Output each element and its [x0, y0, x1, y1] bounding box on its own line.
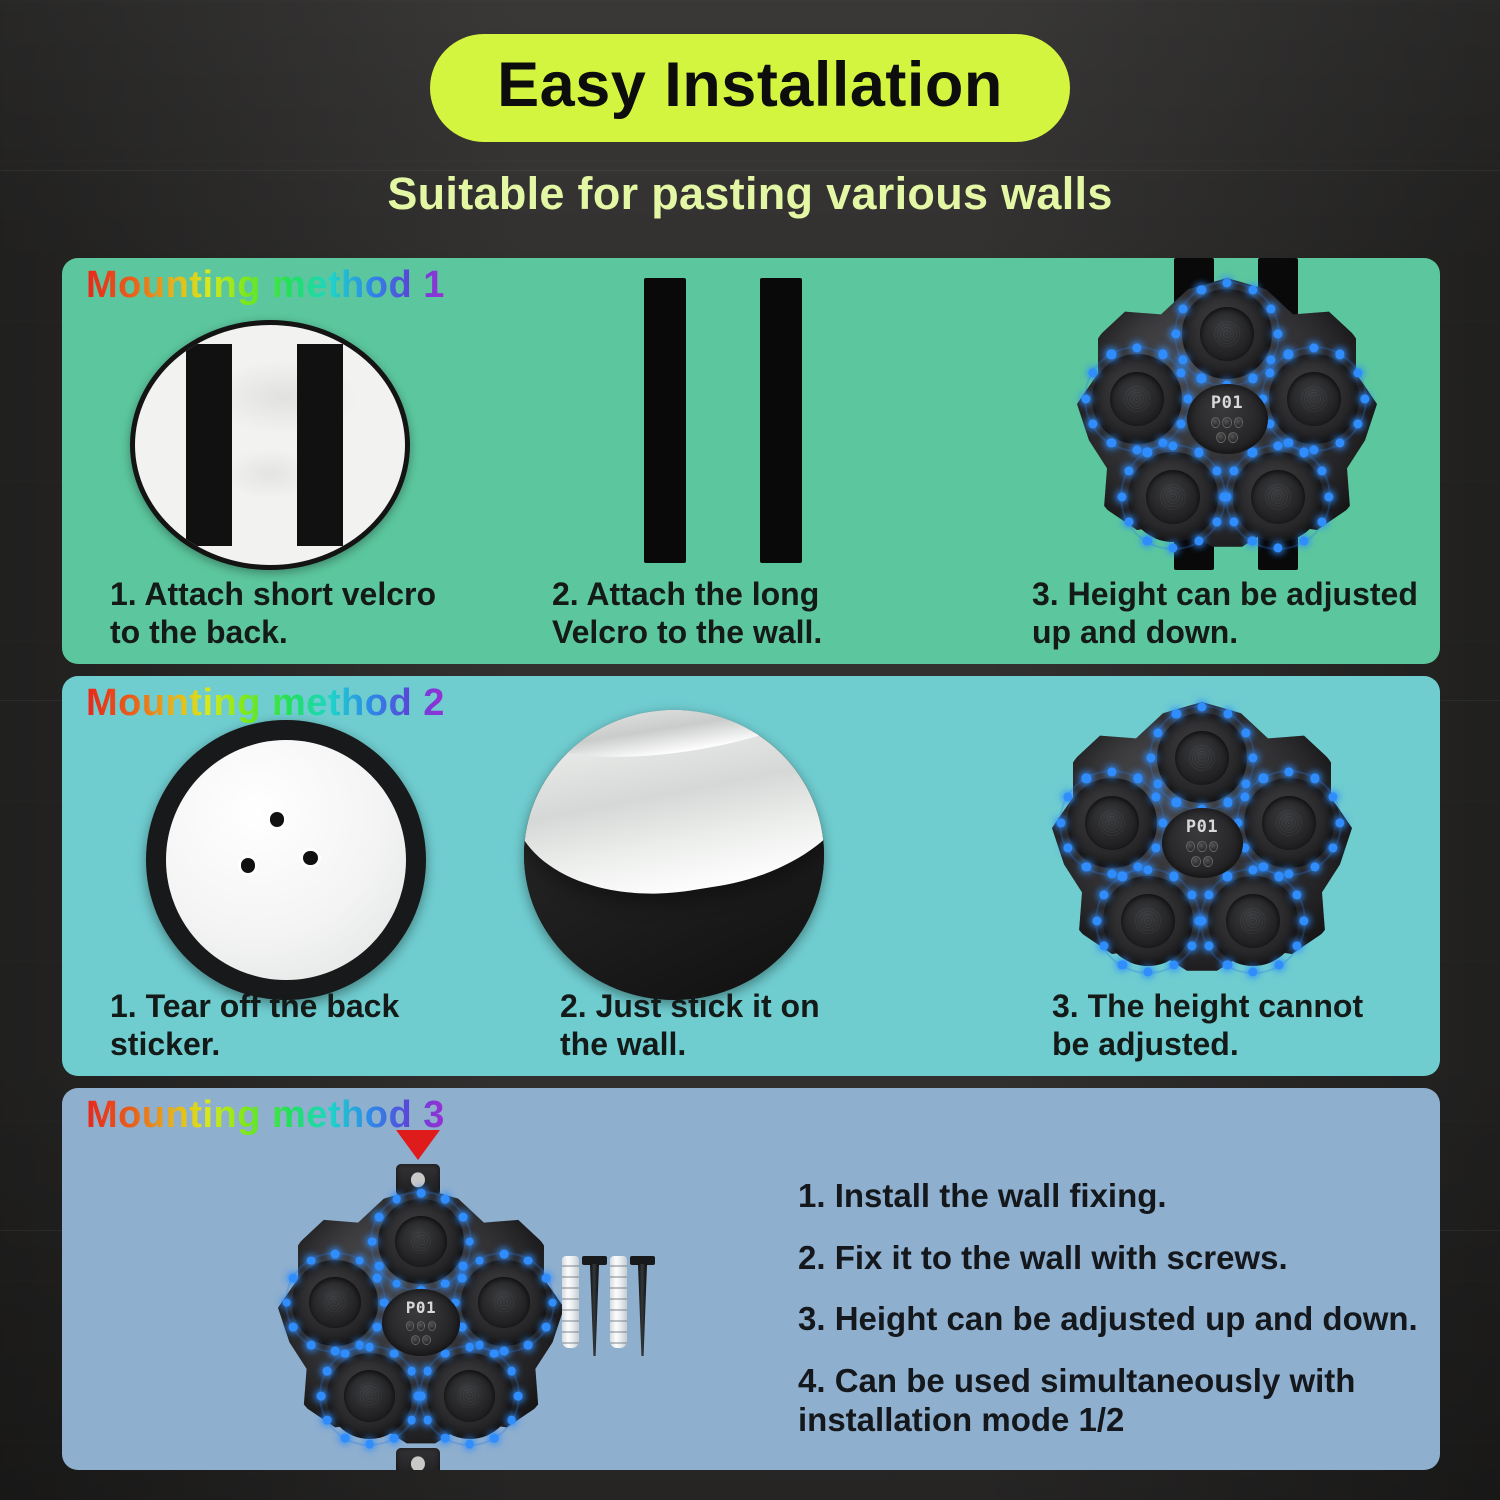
led-dot	[389, 1349, 398, 1358]
target-pad	[1157, 713, 1247, 803]
led-dot	[1088, 420, 1097, 429]
led-dot	[1063, 792, 1072, 801]
led-dot	[1063, 844, 1072, 853]
step-2-1-caption: 1. Tear off the back sticker.	[110, 988, 540, 1064]
led-dot	[1299, 536, 1308, 545]
led-dot	[1197, 703, 1206, 712]
page-subtitle: Suitable for pasting various walls	[0, 168, 1500, 220]
boxing-machine-device: P01	[1052, 702, 1352, 982]
device-button[interactable]	[1197, 841, 1206, 852]
screw-icon	[588, 1256, 601, 1356]
led-dot	[1172, 798, 1181, 807]
led-dot	[1299, 448, 1308, 457]
led-dot	[1329, 792, 1338, 801]
device-display: P01	[1186, 819, 1218, 836]
step-1-2-image	[640, 278, 840, 568]
led-dot	[307, 1256, 316, 1265]
mounting-hole	[300, 848, 320, 868]
led-dot	[1229, 466, 1238, 475]
led-dot	[1168, 543, 1177, 552]
led-dot	[1197, 374, 1206, 383]
led-dot	[1204, 890, 1213, 899]
led-dot	[407, 1367, 416, 1376]
led-dot	[1223, 709, 1232, 718]
led-dot	[1107, 438, 1116, 447]
led-dot	[1274, 872, 1283, 881]
title-pill: Easy Installation	[430, 34, 1070, 142]
velcro-strip-icon	[644, 278, 686, 563]
led-dot	[1169, 960, 1178, 969]
led-dot	[1099, 890, 1108, 899]
led-dot	[1197, 916, 1206, 925]
led-dot	[392, 1279, 401, 1288]
instruction-item: 3. Height can be adjusted up and down.	[798, 1299, 1418, 1339]
led-dot	[1259, 774, 1268, 783]
led-dot	[1248, 285, 1257, 294]
target-pad	[327, 1353, 413, 1439]
device-button[interactable]	[1209, 841, 1218, 852]
led-dot	[1265, 368, 1274, 377]
step-1-1-image	[130, 320, 410, 570]
led-dot	[1242, 728, 1251, 737]
device-button[interactable]	[422, 1335, 431, 1345]
step-2-2-caption: 2. Just stick it on the wall.	[560, 988, 960, 1064]
device-control-panel[interactable]: P01	[382, 1289, 459, 1356]
device-control-panel[interactable]: P01	[1162, 808, 1243, 878]
led-dot	[1354, 368, 1363, 377]
led-dot	[1099, 942, 1108, 951]
device-button[interactable]	[428, 1321, 436, 1331]
led-dot	[282, 1298, 291, 1307]
led-dot	[1267, 304, 1276, 313]
led-dot	[1223, 872, 1232, 881]
led-dot	[1082, 862, 1091, 871]
led-dot	[1293, 942, 1302, 951]
led-dot	[1229, 518, 1238, 527]
target-pad	[292, 1260, 378, 1346]
led-dot	[1171, 330, 1180, 339]
device-button[interactable]	[1211, 417, 1220, 428]
led-dot	[331, 1250, 340, 1259]
page-title: Easy Installation	[492, 52, 1008, 118]
led-dot	[392, 1195, 401, 1204]
led-dot	[373, 1323, 382, 1332]
led-dot	[1248, 536, 1257, 545]
led-dot	[524, 1256, 533, 1265]
step-2-3-caption: 3. The height cannot be adjusted.	[1052, 988, 1440, 1064]
mounting-tab-bottom	[396, 1448, 440, 1470]
led-dot	[1178, 304, 1187, 313]
device-control-panel[interactable]: P01	[1187, 384, 1268, 454]
led-dot	[1172, 709, 1181, 718]
led-dot	[1318, 466, 1327, 475]
mounting-method-3-heading: Mounting method 3	[86, 1094, 445, 1137]
wall-anchor-icon	[562, 1256, 579, 1348]
led-dot	[1153, 728, 1162, 737]
led-dot	[1274, 960, 1283, 969]
mounting-method-1-heading: Mounting method 1	[86, 264, 445, 307]
led-dot	[355, 1256, 364, 1265]
led-dot	[1143, 967, 1152, 976]
instruction-item: 2. Fix it to the wall with screws.	[798, 1238, 1418, 1278]
led-dot	[1133, 774, 1142, 783]
led-dot	[307, 1340, 316, 1349]
led-dot	[1240, 792, 1249, 801]
led-dot	[1081, 394, 1090, 403]
target-pad	[378, 1199, 464, 1285]
led-dot	[1056, 818, 1065, 827]
step-1-2-caption: 2. Attach the long Velcro to the wall.	[552, 576, 982, 652]
led-dot	[1082, 774, 1091, 783]
led-dot	[1118, 960, 1127, 969]
led-dot	[1143, 536, 1152, 545]
led-dot	[441, 1195, 450, 1204]
method-3-device-image: P01	[262, 1130, 582, 1460]
led-dot	[1088, 368, 1097, 377]
led-dot	[548, 1298, 557, 1307]
led-dot	[507, 1416, 516, 1425]
target-pad	[1233, 452, 1323, 542]
led-dot	[524, 1340, 533, 1349]
led-dot	[365, 1440, 374, 1449]
led-dot	[457, 1274, 466, 1283]
led-dot	[1248, 865, 1257, 874]
led-dot	[1310, 774, 1319, 783]
target-pad	[1067, 778, 1157, 868]
led-dot	[441, 1434, 450, 1443]
led-dot	[1132, 343, 1141, 352]
circular-back-plate-icon	[130, 320, 410, 570]
led-dot	[317, 1391, 326, 1400]
led-dot	[373, 1274, 382, 1283]
screw-icon	[636, 1256, 649, 1356]
led-dot	[423, 1416, 432, 1425]
step-1-1-caption: 1. Attach short velcro to the back.	[110, 576, 550, 652]
wall-anchor-icon	[610, 1256, 627, 1348]
wall-hardware-image	[562, 1256, 649, 1356]
led-dot	[1143, 865, 1152, 874]
led-dot	[323, 1416, 332, 1425]
device-display: P01	[1211, 395, 1243, 412]
step-2-2-image	[524, 710, 844, 1000]
led-dot	[289, 1274, 298, 1283]
led-dot	[465, 1343, 474, 1352]
led-dot	[1293, 890, 1302, 899]
mounting-hole	[267, 809, 287, 829]
led-dot	[423, 1367, 432, 1376]
led-dot	[1177, 368, 1186, 377]
led-dot	[1284, 350, 1293, 359]
led-dot	[1107, 350, 1116, 359]
led-dot	[375, 1261, 384, 1270]
mounting-method-3-panel: Mounting method 3 P01	[62, 1088, 1440, 1470]
led-dot	[1188, 890, 1197, 899]
boxing-machine-device: P01	[1077, 278, 1377, 558]
target-pad	[427, 1353, 513, 1439]
led-dot	[1092, 916, 1101, 925]
led-dot	[1222, 279, 1231, 288]
instruction-item: 4. Can be used simultaneously with insta…	[798, 1361, 1418, 1440]
led-dot	[1222, 492, 1231, 501]
boxing-machine-device: P01	[278, 1188, 564, 1454]
led-dot	[323, 1367, 332, 1376]
led-dot	[1335, 350, 1344, 359]
target-pad	[1244, 778, 1334, 868]
led-dot	[1169, 872, 1178, 881]
led-dot	[1197, 285, 1206, 294]
led-dot	[1194, 448, 1203, 457]
led-dot	[490, 1349, 499, 1358]
led-dot	[341, 1434, 350, 1443]
led-dot	[514, 1391, 523, 1400]
device-button[interactable]	[1216, 432, 1226, 443]
velcro-strip-icon	[760, 278, 802, 563]
led-dot	[1318, 518, 1327, 527]
led-dot	[1118, 872, 1127, 881]
device-button[interactable]	[417, 1321, 425, 1331]
led-dot	[417, 1189, 426, 1198]
led-dot	[475, 1256, 484, 1265]
step-1-3-image: P01	[1062, 258, 1392, 568]
step-2-3-image: P01	[1042, 702, 1362, 992]
led-dot	[1309, 343, 1318, 352]
mounting-hole	[238, 855, 258, 875]
led-dot	[375, 1213, 384, 1222]
led-dot	[1213, 466, 1222, 475]
led-dot	[368, 1237, 377, 1246]
led-dot	[507, 1367, 516, 1376]
device-display: P01	[406, 1300, 436, 1316]
led-dot	[465, 1237, 474, 1246]
step-2-1-image	[146, 720, 426, 1000]
device-button[interactable]	[1186, 841, 1195, 852]
led-dot	[1178, 355, 1187, 364]
sticker-face	[166, 740, 407, 981]
target-pad	[1269, 354, 1359, 444]
peeling-sticker-icon	[524, 710, 824, 1000]
led-dot	[1248, 967, 1257, 976]
led-dot	[1273, 441, 1282, 450]
led-dot	[1124, 466, 1133, 475]
led-dot	[1107, 767, 1116, 776]
led-dot	[465, 1440, 474, 1449]
led-dot	[1158, 350, 1167, 359]
led-dot	[365, 1343, 374, 1352]
led-dot	[1204, 942, 1213, 951]
device-button[interactable]	[1191, 856, 1201, 867]
sticker-disc-icon	[146, 720, 426, 1000]
target-pad	[1103, 876, 1193, 966]
led-dot	[542, 1323, 551, 1332]
target-pad	[461, 1260, 547, 1346]
led-dot	[1273, 543, 1282, 552]
device-button[interactable]	[411, 1335, 420, 1345]
led-dot	[1152, 792, 1161, 801]
method-3-instruction-list: 1. Install the wall fixing. 2. Fix it to…	[798, 1176, 1418, 1462]
header: Easy Installation Suitable for pasting v…	[0, 0, 1500, 220]
led-dot	[1168, 441, 1177, 450]
target-pad	[1128, 452, 1218, 542]
led-dot	[500, 1347, 509, 1356]
led-dot	[289, 1323, 298, 1332]
device-button[interactable]	[1228, 432, 1238, 443]
led-dot	[1153, 779, 1162, 788]
led-dot	[417, 1391, 426, 1400]
device-button[interactable]	[406, 1321, 414, 1331]
led-dot	[341, 1349, 350, 1358]
led-dot	[1146, 754, 1155, 763]
led-dot	[490, 1434, 499, 1443]
plate-scuff	[135, 325, 405, 565]
target-pad	[1208, 876, 1298, 966]
led-dot	[1194, 536, 1203, 545]
led-dot	[1248, 448, 1257, 457]
led-dot	[1284, 767, 1293, 776]
mounting-method-2-heading: Mounting method 2	[86, 682, 445, 725]
device-button[interactable]	[1234, 417, 1243, 428]
led-dot	[459, 1213, 468, 1222]
mounting-method-1-panel: Mounting method 1 1. Attach short velcro…	[62, 258, 1440, 664]
led-dot	[500, 1250, 509, 1259]
target-pad	[1092, 354, 1182, 444]
led-dot	[542, 1274, 551, 1283]
device-button[interactable]	[1203, 856, 1213, 867]
led-dot	[1117, 492, 1126, 501]
instruction-item: 1. Install the wall fixing.	[798, 1176, 1418, 1216]
led-dot	[1124, 518, 1133, 527]
step-1-3-caption: 3. Height can be adjusted up and down.	[1032, 576, 1440, 652]
led-dot	[407, 1416, 416, 1425]
target-pad	[1182, 289, 1272, 379]
led-dot	[389, 1434, 398, 1443]
device-button[interactable]	[1222, 417, 1231, 428]
mounting-method-2-panel: Mounting method 2 1. Tear off the back s…	[62, 676, 1440, 1076]
led-dot	[1143, 448, 1152, 457]
led-dot	[1223, 960, 1232, 969]
led-dot	[441, 1279, 450, 1288]
